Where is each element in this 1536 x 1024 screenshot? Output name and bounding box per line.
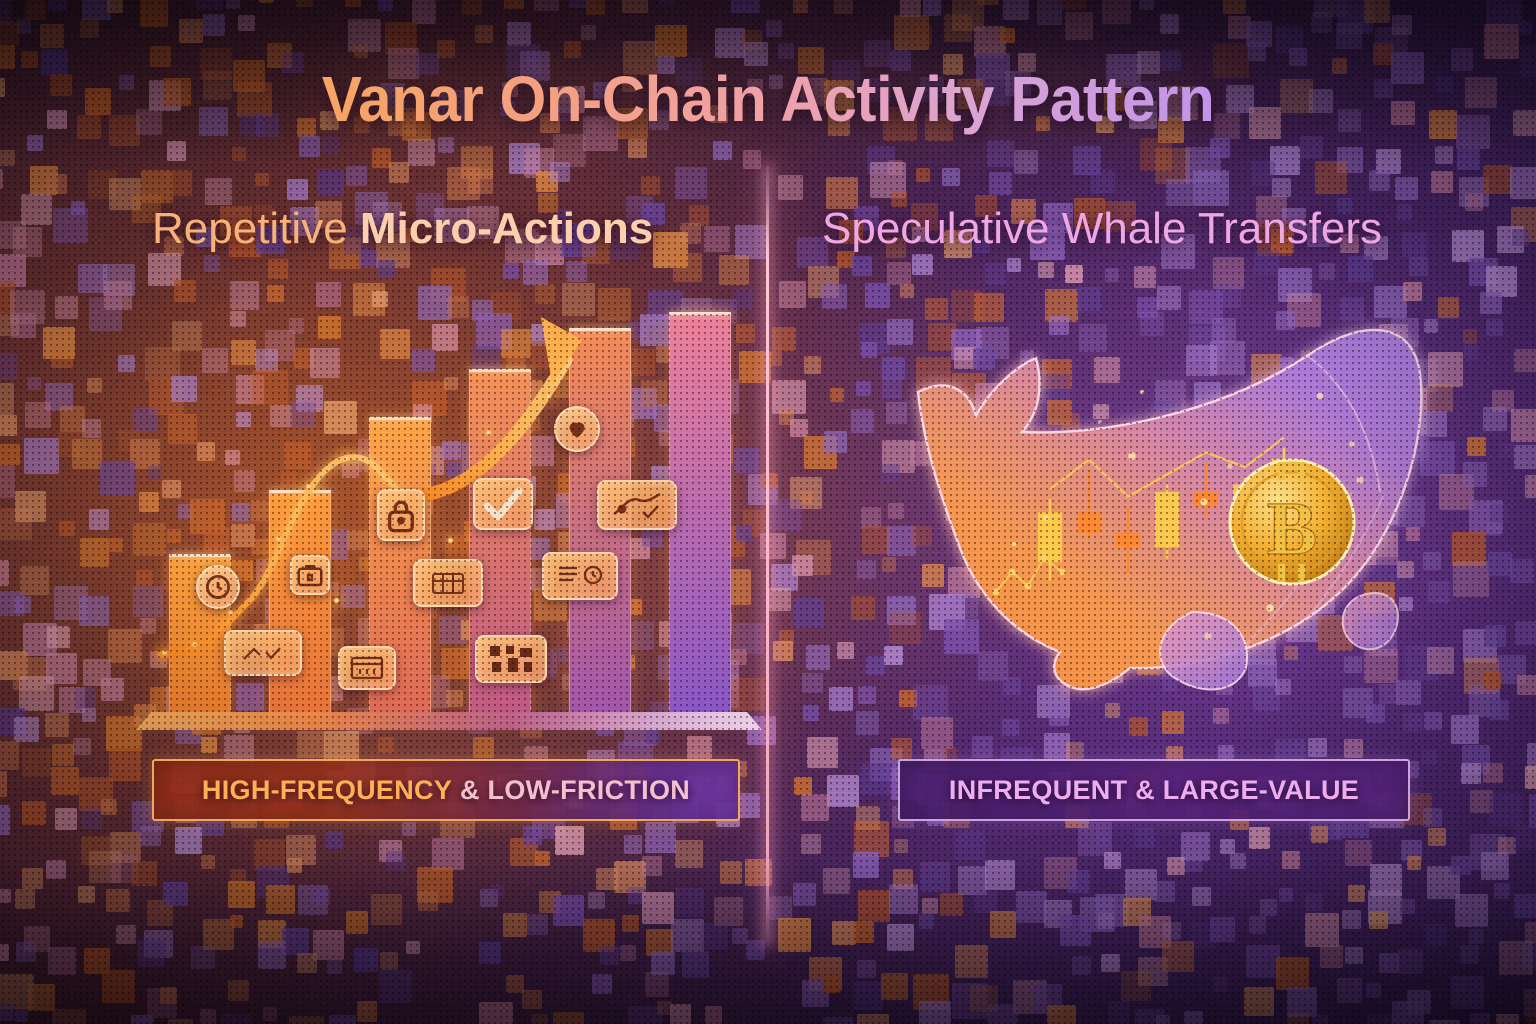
whale-icon: B [800,296,1440,706]
right-status-badge: INFREQUENT & LARGE-VALUE [898,759,1410,821]
refresh-coin-icon [196,565,240,609]
left-panel-heading: Repetitive Micro-Actions [152,204,653,254]
infographic-canvas: B Vanar On-Chain Activity Pattern Repeti… [0,0,1536,1024]
bitcoin-coin-icon: B [1230,460,1354,584]
bar-chart-illustration [150,300,750,740]
left-badge-accent: HIGH-FREQUENCY [202,775,452,805]
left-heading-bold: Micro-Actions [360,204,653,253]
right-panel-heading: Speculative Whale Transfers [822,204,1382,254]
lock-icon [377,489,425,541]
whale-illustration: B [800,296,1440,706]
heart-pin-icon [554,406,600,452]
left-badge-rest: & LOW-FRICTION [452,775,690,805]
briefcase-lock-icon [290,555,330,595]
left-heading-light: Repetitive [152,204,360,253]
page-title: Vanar On-Chain Activity Pattern [46,62,1490,136]
right-badge-label: INFREQUENT & LARGE-VALUE [949,775,1359,806]
card-check-icon [224,630,302,676]
left-status-badge: HIGH-FREQUENCY & LOW-FRICTION [152,759,740,821]
grid-card-icon [413,559,483,607]
divider [766,166,769,944]
svg-text:B: B [1267,487,1318,571]
qr-card-icon [475,635,547,683]
ticket-icon [338,646,396,690]
checkmark-icon [473,478,533,530]
chart-card-icon [597,480,677,530]
list-refresh-card-icon [542,552,618,600]
